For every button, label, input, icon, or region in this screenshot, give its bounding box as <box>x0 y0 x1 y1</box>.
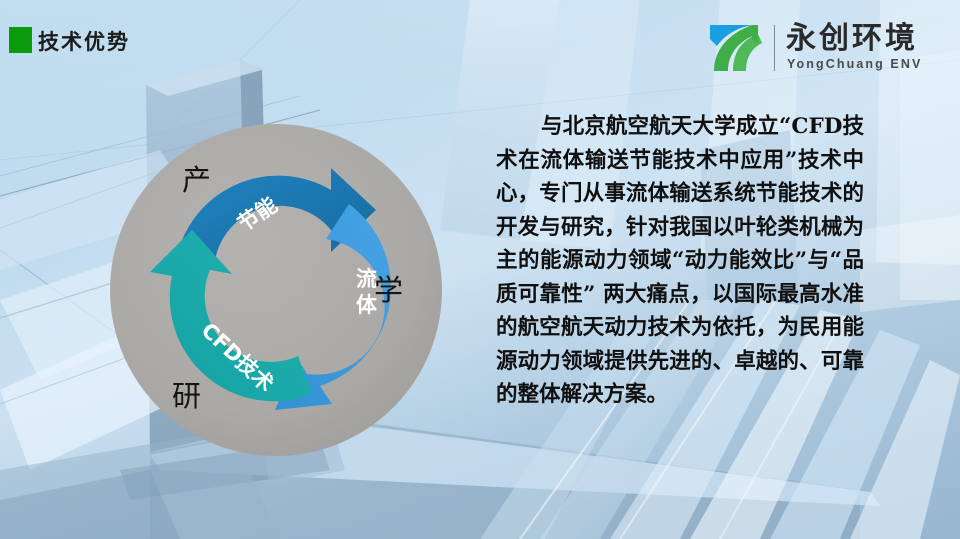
logo-chinese-name: 永创环境 <box>786 22 918 56</box>
diagram-outer-label-yan: 研 <box>172 379 201 413</box>
cycle-diagram: 节能 流 体 CFD技术 产 学 研 <box>104 118 452 462</box>
logo-english-name: YongChuang ENV <box>787 57 922 71</box>
slide-canvas: 技术优势 永创环境 YongChuang ENV <box>0 0 960 539</box>
diagram-outer-label-xue: 学 <box>374 273 403 307</box>
page-title: 技术优势 <box>38 26 130 56</box>
body-paragraph: 与北京航空航天大学成立“CFD技术在流体输送节能技术中应用”技术中心，专门从事流… <box>496 110 864 412</box>
company-logo: 永创环境 YongChuang ENV <box>706 22 922 74</box>
logo-leaf-icon <box>706 22 768 74</box>
logo-divider <box>774 25 775 71</box>
diagram-outer-label-chan: 产 <box>182 163 211 197</box>
title-marker-square <box>9 27 32 53</box>
